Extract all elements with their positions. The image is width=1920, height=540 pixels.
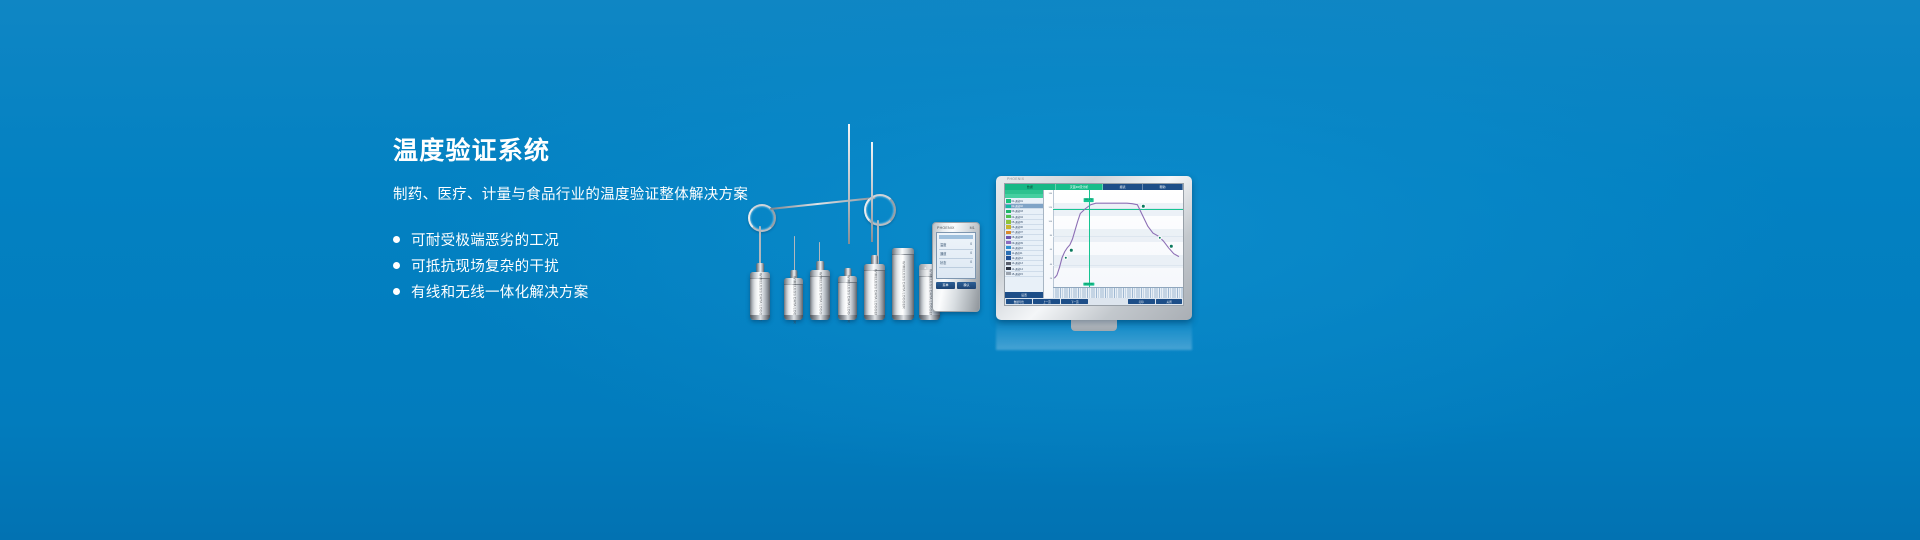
handheld-screen-titlebar [939,235,973,239]
channel-label: 13-通道13 [1012,261,1023,265]
needle-probe-tall [848,124,850,244]
y-tick: 80 [1050,235,1052,237]
feature-label: 可抵抗现场复杂的干扰 [411,255,559,276]
handheld-confirm-key[interactable]: 确认 [957,282,976,289]
data-logger: WIRELESS DATA LOGGER [892,248,914,320]
channel-color-swatch [1006,225,1011,228]
logger-base [838,315,857,320]
feature-label: 有线和无线一体化解决方案 [411,281,589,302]
row-name: 通道 [940,251,946,256]
row-name: 温度 [940,242,946,247]
channel-color-swatch [1006,251,1011,254]
data-logger: WIRELESS DATA LOGGER [784,278,803,320]
channel-color-swatch [1006,205,1011,208]
probe-coil-large [864,194,896,226]
monitor-bezel: PHOENIX 数据 灭菌F0值分析 报表 帮助 0 [996,176,1192,320]
channel-label: 05-通道05 [1012,220,1023,224]
row-value: 0 [970,251,972,256]
channel-label: 11-通道11 [1012,251,1023,255]
export-button[interactable]: 数据导出 [1006,299,1033,305]
temperature-chart: 140 120 100 80 60 40 20 [1044,190,1183,298]
channel-color-swatch [1006,241,1011,244]
probe-wire-thin [794,236,795,272]
channel-color-swatch [1006,272,1011,275]
row-value: 0 [970,260,972,265]
product-stage: WIRELESS DATA LOGGER WIRELESS DATA LOGGE… [720,120,1220,320]
logger-label: WIRELESS DATA LOGGER [901,262,906,310]
next-page-button[interactable]: 下一页 [1061,299,1088,305]
data-logger: WIRELESS DATA LOGGER [838,276,857,320]
handheld-row: 通道 0 [939,250,973,259]
data-logger: WIRELESS DATA LOGGER [810,270,830,320]
y-tick: 20 [1050,278,1052,280]
bullet-dot-icon [393,262,400,269]
channel-label: 06-通道06 [1012,225,1023,229]
software-screen: 数据 灭菌F0值分析 报表 帮助 01-通道01 02-通道02 03-通道03 [1004,183,1184,306]
logger-base [919,315,940,320]
logger-label: WIRELESS DATA LOGGER [758,273,763,321]
logger-base [784,315,803,320]
cursor-value-label: 121.3℃ [1083,198,1094,202]
logger-base [750,315,770,320]
print-button[interactable]: 打印 [1128,299,1155,305]
data-logger: WIRELESS DATA LOGGER [750,272,770,320]
handheld-menu-key[interactable]: 菜单 [936,282,955,289]
logger-label: WIRELESS DATA LOGGER [872,269,877,317]
handheld-row: 状态 0 [939,259,973,268]
handheld-keypad: 菜单 确认 [936,282,976,289]
y-tick: 40 [1050,264,1052,266]
channel-color-swatch [1006,256,1011,259]
channel-color-swatch [1006,199,1011,202]
row-name: 状态 [940,260,946,265]
logger-cap [892,248,914,255]
channel-label: 12-通道12 [1012,256,1023,260]
software-body: 01-通道01 02-通道02 03-通道03 04-通道04 05-通道05 … [1005,190,1183,298]
channel-color-swatch [1006,267,1011,270]
bullet-dot-icon [393,288,400,295]
row-value: 0 [970,242,972,247]
logger-base [864,315,885,320]
channel-label: 01-通道01 [1012,199,1023,203]
channel-color-swatch [1006,246,1011,249]
channel-sidebar: 01-通道01 02-通道02 03-通道03 04-通道04 05-通道05 … [1005,190,1044,298]
handheld-reader[interactable]: PHOENIX M1 温度 0 通道 0 状态 0 菜单 [932,222,980,312]
logger-label: WIRELESS DATA LOGGER [818,272,823,320]
chart-series-line [1053,190,1183,288]
close-button[interactable]: 关闭 [1156,299,1183,305]
sidebar-subheader [1005,194,1043,198]
channel-color-swatch [1006,236,1011,239]
bullet-dot-icon [393,236,400,243]
feature-label: 可耐受极端恶劣的工况 [411,229,559,250]
channel-color-swatch [1006,215,1011,218]
y-tick: 100 [1049,221,1053,223]
channel-label: 08-通道08 [1012,235,1023,239]
model-label: M1 [970,226,975,230]
logger-base [810,315,830,320]
channel-label: 04-通道04 [1012,215,1023,219]
monitor-display: PHOENIX 数据 灭菌F0值分析 报表 帮助 0 [996,176,1192,320]
channel-label: 09-通道09 [1012,241,1023,245]
needle-probe-short [871,142,873,242]
hero-banner: 温度验证系统 制药、医疗、计量与食品行业的温度验证整体解决方案 可耐受极端恶劣的… [0,0,1920,540]
y-tick: 120 [1049,207,1053,209]
data-logger: WIRELESS DATA LOGGER [864,264,885,320]
channel-label: 03-通道03 [1012,209,1023,213]
handheld-row: 温度 0 [939,241,973,250]
channel-color-swatch [1006,220,1011,223]
channel-label: 07-通道07 [1012,230,1023,234]
chart-x-axis-scrollbar[interactable] [1053,287,1183,298]
channel-label: 15-通道15 [1012,272,1023,276]
channel-label: 14-通道14 [1012,267,1023,271]
channel-color-swatch [1006,262,1011,265]
brand-label: PHOENIX [937,226,955,230]
channel-row[interactable]: 15-通道15 [1005,272,1043,277]
logger-base [892,315,914,320]
probe-wire [770,197,876,210]
channel-color-swatch [1006,210,1011,213]
y-tick: 60 [1050,249,1052,251]
channel-label: 02-通道02 [1012,204,1023,208]
y-tick: 140 [1049,193,1053,195]
monitor-brand-label: PHOENIX [1007,177,1024,181]
monitor-stand [1071,320,1117,331]
channel-color-swatch [1006,231,1011,234]
toolbar-spacer [1089,299,1126,305]
cursor-time-label: 18:24:05 [1083,283,1094,286]
software-bottombar: 数据导出 上一页 下一页 打印 关闭 [1005,298,1183,305]
chart-cursor[interactable] [1089,190,1090,288]
handheld-screen: 温度 0 通道 0 状态 0 [936,232,976,279]
channel-label: 10-通道10 [1012,246,1023,250]
prev-page-button[interactable]: 上一页 [1033,299,1060,305]
